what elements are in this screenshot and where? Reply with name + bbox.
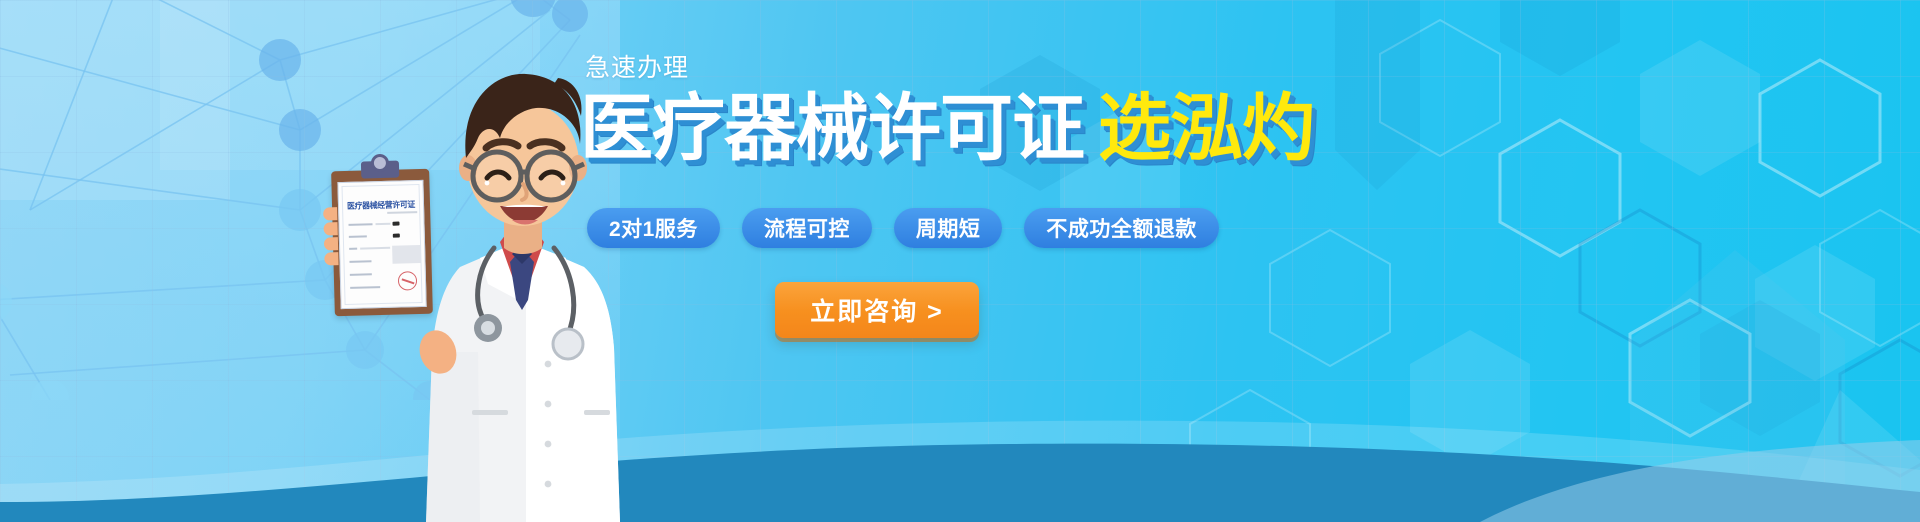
feature-pill[interactable]: 周期短 <box>894 208 1003 248</box>
eyebrow-text: 急速办理 <box>585 48 689 84</box>
banner-content: 急速办理 医疗器械许可证选泓灼 2对1服务 流程可控 周期短 不成功全额退款 立… <box>585 0 1305 522</box>
headline-main: 医疗器械许可证 <box>580 88 1084 169</box>
feature-pill[interactable]: 不成功全额退款 <box>1024 208 1219 248</box>
feature-pill-list: 2对1服务 流程可控 周期短 不成功全额退款 <box>587 208 1219 248</box>
headline-accent: 选泓灼 <box>1098 88 1314 169</box>
feature-pill[interactable]: 流程可控 <box>742 208 872 248</box>
consult-now-button[interactable]: 立即咨询 > <box>775 282 979 338</box>
feature-pill[interactable]: 2对1服务 <box>587 208 720 248</box>
clipboard-clip-icon <box>361 161 399 179</box>
page-title: 医疗器械许可证选泓灼 <box>580 92 1314 165</box>
hand-fingers <box>323 207 339 265</box>
promo-banner: 医疗器械经营许可证 <box>0 0 1920 522</box>
